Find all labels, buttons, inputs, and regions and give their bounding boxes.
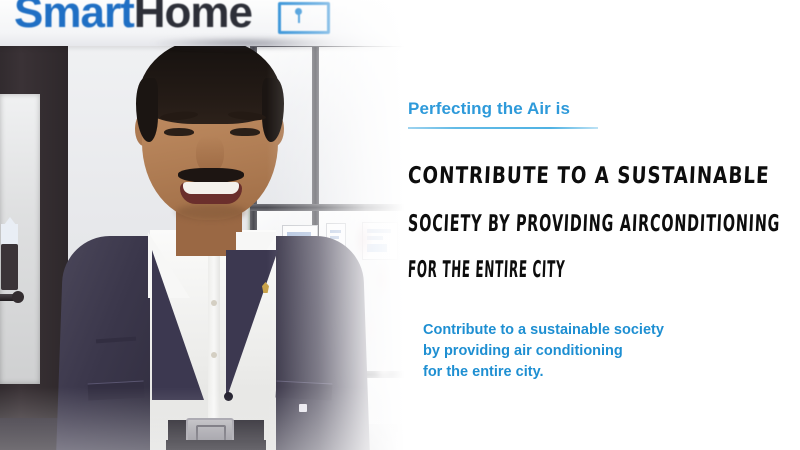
subtitle-block: Contribute to a sustainable society by p… <box>423 320 664 383</box>
subtitle-line-2: by providing air conditioning <box>423 341 664 362</box>
shirt-placket <box>208 250 220 418</box>
mustache <box>178 168 244 183</box>
jacket-button <box>224 392 233 401</box>
pocket-detail <box>299 404 307 412</box>
brand-word-home: Home <box>134 0 252 37</box>
eyebrow-underline <box>408 127 598 129</box>
eye-right <box>230 128 260 136</box>
chin-shadow <box>176 204 246 220</box>
brand-wordmark: SmartHome <box>14 0 252 38</box>
jacket-pocket-left <box>88 381 145 401</box>
jacket-lapel-right <box>226 250 278 400</box>
jacket-lapel-left <box>152 250 204 400</box>
message-panel: Perfecting the Air is CONTRIBUTE TO A SU… <box>400 0 800 450</box>
trousers <box>166 440 266 450</box>
brand-word-smart: Smart <box>14 0 134 37</box>
jacket-pocket-right <box>276 381 333 401</box>
handwritten-line-1: CONTRIBUTE TO A SUSTAINABLE <box>407 162 776 189</box>
smart-device-bracket-icon <box>278 2 330 34</box>
subtitle-line-3: for the entire city. <box>423 362 664 383</box>
mouth <box>180 182 242 204</box>
eye-left <box>164 128 194 136</box>
hair <box>138 38 282 124</box>
signage-shadow <box>150 38 340 48</box>
shirt-button <box>211 352 217 358</box>
presenter <box>0 0 430 450</box>
video-frame: SmartHome Perfecting the Air is CONTRIBU… <box>0 0 800 450</box>
panel-eyebrow-heading: Perfecting the Air is <box>408 99 570 119</box>
subtitle-line-1: Contribute to a sustainable society <box>423 320 664 341</box>
handwritten-line-2: SOCIETY BY PROVIDING AIRCONDITIONING <box>407 210 697 237</box>
presenter-photo: SmartHome <box>0 0 430 450</box>
shirt-button <box>211 300 217 306</box>
handwritten-line-3: FOR THE ENTIRE CITY <box>407 256 648 283</box>
teeth <box>183 182 239 194</box>
